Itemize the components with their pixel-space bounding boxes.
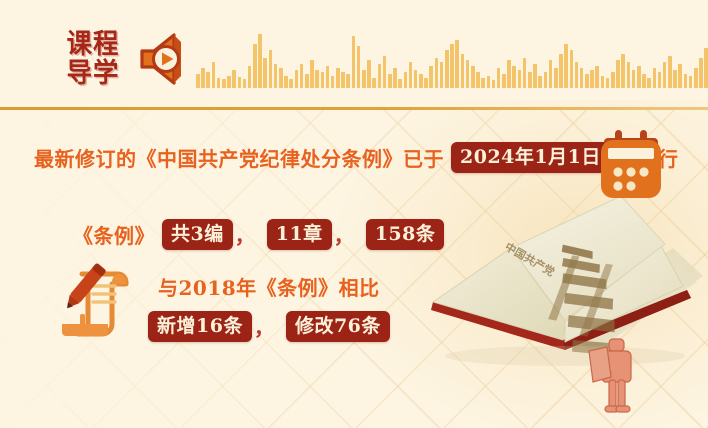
waveform-bar	[653, 68, 657, 88]
waveform-bar	[440, 62, 444, 88]
waveform-bar	[336, 68, 340, 88]
waveform-bar	[300, 64, 304, 88]
waveform-bar	[315, 70, 319, 88]
waveform-bar	[528, 72, 532, 88]
waveform-bar	[647, 78, 651, 88]
waveform-bar	[694, 68, 698, 88]
waveform-bar	[575, 62, 579, 88]
waveform-bar	[243, 79, 247, 88]
waveform-bar	[554, 68, 558, 88]
waveform-bar	[627, 62, 631, 88]
waveform-bar	[295, 70, 299, 88]
waveform-bar	[258, 34, 262, 88]
waveform-bar	[704, 48, 708, 88]
waveform-bar	[429, 66, 433, 88]
waveform-bar	[678, 64, 682, 88]
separator-comma: ，	[233, 220, 260, 249]
speaker-play-icon[interactable]	[136, 30, 188, 88]
waveform-bar	[196, 74, 200, 88]
waveform-bar	[419, 74, 423, 88]
waveform-bar	[699, 58, 703, 88]
waveform-bar	[222, 79, 226, 88]
waveform-bar	[388, 74, 392, 88]
waveform-bar	[414, 70, 418, 88]
changes-badge-added: 新增16条	[148, 311, 252, 342]
waveform-bar	[466, 60, 470, 88]
waveform-bar	[269, 50, 273, 88]
waveform-bar	[601, 76, 605, 88]
waveform-bar	[507, 60, 511, 88]
waveform-bar	[341, 72, 345, 88]
line1-prefix-text: 最新修订的《中国共产党纪律处分条例》已于	[34, 143, 444, 172]
calendar-icon	[595, 128, 667, 202]
waveform-bar	[523, 58, 527, 88]
open-book-icon: 中国共产党	[415, 190, 708, 375]
waveform-bar	[279, 68, 283, 88]
waveform-bar	[284, 76, 288, 88]
statement-line-comparison: 与2018年《条例》相比	[158, 272, 380, 301]
regulation-label: 《条例》	[73, 220, 155, 249]
waveform-bar	[668, 56, 672, 88]
structure-badge-parts: 共3编	[162, 219, 233, 250]
waveform-bar	[362, 70, 366, 88]
waveform-bar	[383, 56, 387, 88]
waveform-bar	[673, 70, 677, 88]
waveform-bar	[378, 64, 382, 88]
waveform-bar	[321, 72, 325, 88]
waveform-bar	[346, 74, 350, 88]
waveform-bar	[326, 66, 330, 88]
waveform-bar	[409, 62, 413, 88]
waveform-bar	[518, 70, 522, 88]
waveform-bar	[393, 68, 397, 88]
waveform-bar	[455, 40, 459, 88]
waveform-bar	[689, 76, 693, 88]
waveform-bar	[637, 66, 641, 88]
waveform-bar	[611, 72, 615, 88]
waveform-bar	[227, 76, 231, 88]
waveform-bar	[632, 70, 636, 88]
waveform-bar	[404, 72, 408, 88]
waveform-bar	[253, 44, 257, 88]
waveform-bar	[580, 68, 584, 88]
structure-badge-chapters: 11章	[267, 219, 332, 250]
course-guide-logo: 课程 导学	[57, 27, 129, 91]
waveform-bar	[512, 66, 516, 88]
waveform-bar	[212, 62, 216, 88]
waveform-bar	[238, 77, 242, 88]
changes-badge-modified: 修改76条	[286, 311, 390, 342]
waveform-bar	[471, 66, 475, 88]
structure-badge-articles: 158条	[366, 219, 445, 250]
waveform-bar	[663, 62, 667, 88]
logo-line-1: 课程	[67, 31, 120, 58]
waveform-bar	[549, 60, 553, 88]
waveform-bar	[367, 60, 371, 88]
statement-line-effective-date: 最新修订的《中国共产党纪律处分条例》已于 2024年1月1日 起施行	[34, 142, 678, 173]
waveform-bar	[658, 72, 662, 88]
header-divider	[0, 107, 708, 110]
waveform-bar	[461, 54, 465, 88]
waveform-bar	[248, 66, 252, 88]
waveform-bar	[642, 74, 646, 88]
waveform-bar	[502, 74, 506, 88]
waveform-bar	[217, 78, 221, 88]
waveform-bar	[564, 44, 568, 88]
waveform-bar	[232, 70, 236, 88]
waveform-bar	[331, 76, 335, 88]
audio-waveform	[196, 26, 696, 88]
waveform-bar	[206, 72, 210, 88]
waveform-bar	[621, 54, 625, 88]
waveform-bar	[398, 79, 402, 88]
waveform-bar	[481, 78, 485, 88]
person-reading-icon	[585, 335, 637, 421]
waveform-bar	[424, 78, 428, 88]
waveform-bar	[544, 72, 548, 88]
waveform-bar	[274, 64, 278, 88]
waveform-bar	[559, 54, 563, 88]
waveform-bar	[352, 36, 356, 88]
separator-comma: ，	[252, 312, 279, 341]
logo-line-2: 导学	[67, 60, 120, 87]
waveform-bar	[606, 78, 610, 88]
waveform-bar	[435, 58, 439, 88]
waveform-bar	[476, 72, 480, 88]
waveform-bar	[533, 64, 537, 88]
waveform-bar	[263, 58, 267, 88]
waveform-bar	[487, 76, 491, 88]
waveform-bar	[201, 68, 205, 88]
scroll-pencil-icon	[46, 258, 140, 346]
separator-comma: ，	[332, 220, 359, 249]
waveform-bar	[357, 46, 361, 88]
waveform-bar	[684, 74, 688, 88]
waveform-bar	[305, 74, 309, 88]
statement-line-changes: 新增16条 ， 修改76条	[148, 311, 390, 342]
waveform-bar	[585, 74, 589, 88]
effective-date-badge: 2024年1月1日	[451, 142, 610, 173]
infographic-canvas: 课程 导学	[0, 0, 708, 428]
waveform-bar	[497, 68, 501, 88]
waveform-bar	[538, 76, 542, 88]
waveform-bar	[492, 80, 496, 88]
waveform-bar	[289, 79, 293, 88]
waveform-bar	[310, 60, 314, 88]
waveform-bar	[372, 78, 376, 88]
waveform-bar	[595, 66, 599, 88]
waveform-bar	[590, 70, 594, 88]
statement-line-structure: 《条例》 共3编 ， 11章 ， 158条	[73, 219, 444, 250]
waveform-bar	[570, 50, 574, 88]
waveform-bar	[616, 60, 620, 88]
comparison-text: 与2018年《条例》相比	[158, 272, 380, 301]
waveform-bar	[450, 44, 454, 88]
waveform-bar	[445, 50, 449, 88]
header-bar: 课程 导学	[0, 0, 708, 108]
